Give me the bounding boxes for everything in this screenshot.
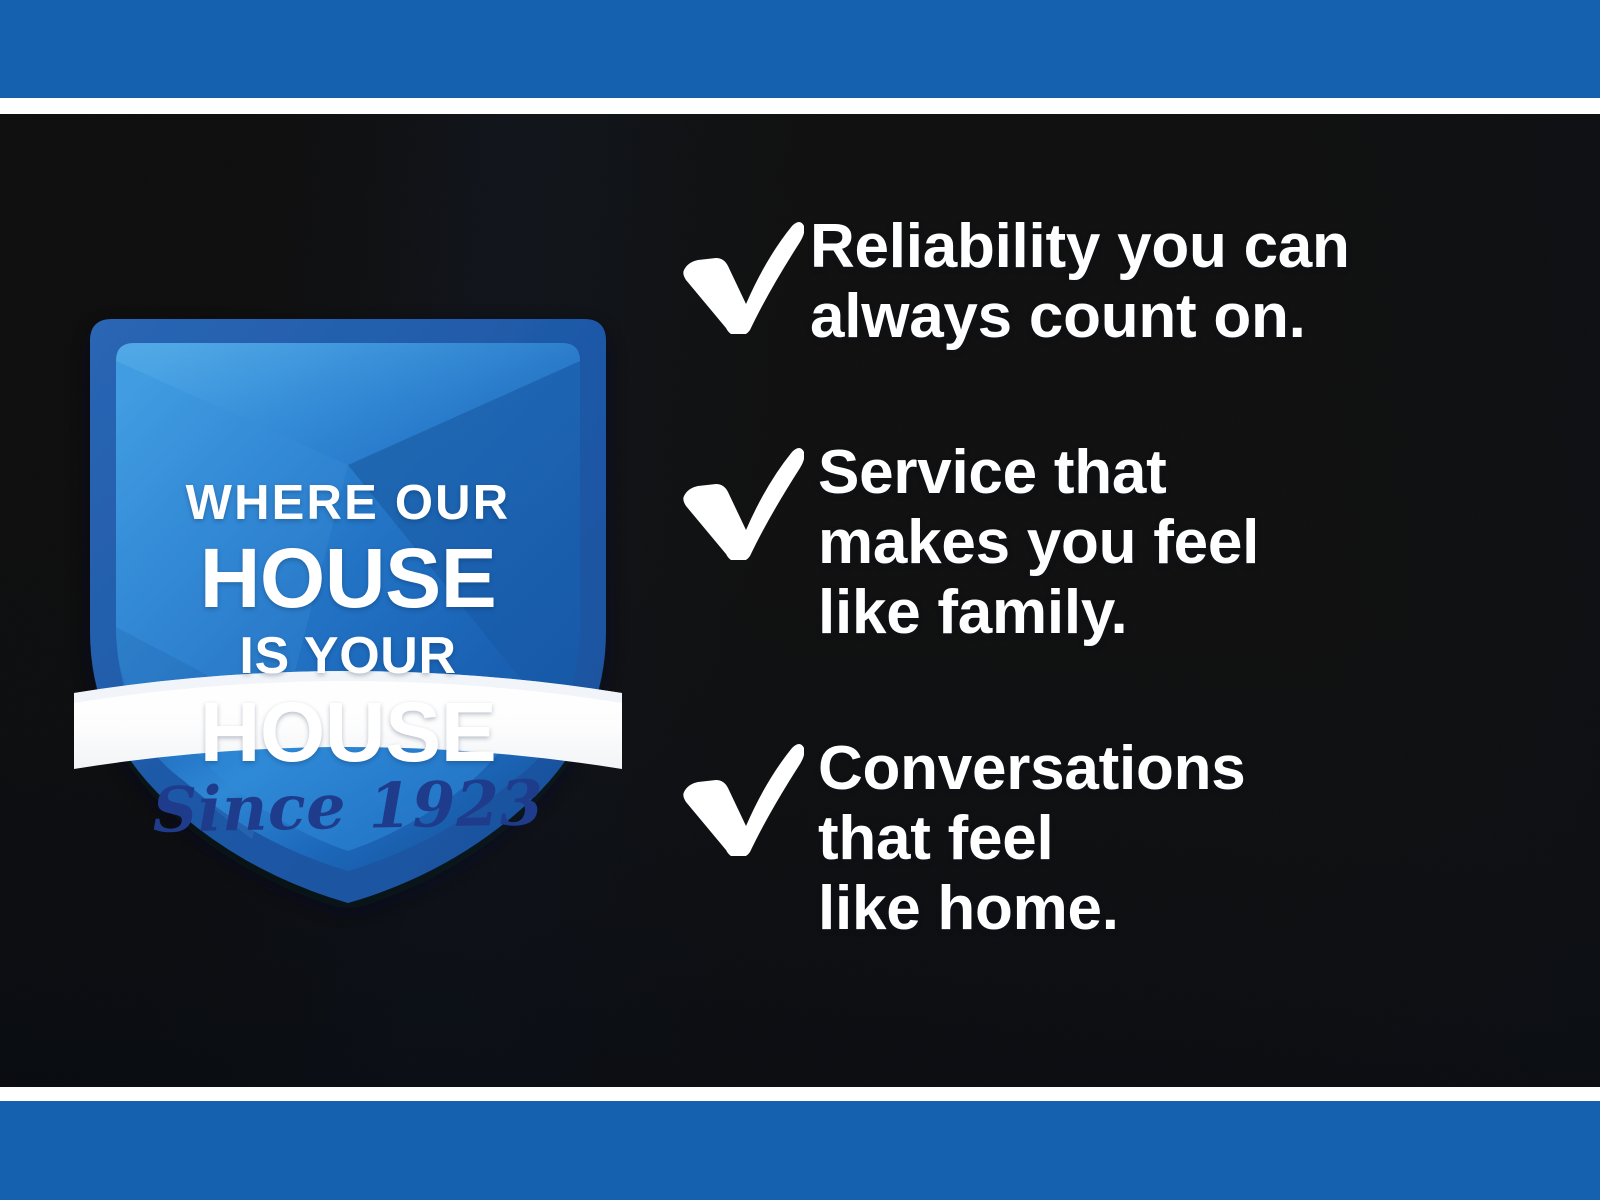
list-item-text: Service that makes you feel like family. [804,436,1492,648]
list-item-line: always count on. [810,282,1492,352]
checkmark-icon [672,218,804,334]
list-item-line: that feel [818,804,1492,874]
list-item: Service that makes you feel like family. [672,436,1492,648]
list-item-text: Reliability you can always count on. [804,210,1492,352]
list-item-line: Conversations [818,734,1492,804]
list-item-line: Service that [818,438,1492,508]
list-item-line: makes you feel [818,508,1492,578]
poster-stage: WHERE OUR HOUSE IS YOUR HOUSE Since 1923… [0,114,1600,1087]
bottom-bar-divider [0,1087,1600,1101]
list-item: Conversations that feel like home. [672,732,1492,944]
list-item-line: like family. [818,578,1492,648]
list-item-line: like home. [818,874,1492,944]
list-item: Reliability you can always count on. [672,210,1492,352]
value-prop-list: Reliability you can always count on. Ser… [672,210,1492,944]
bottom-brand-bar [0,1101,1600,1200]
top-bar-divider [0,98,1600,114]
checkmark-icon [672,444,804,560]
top-brand-bar [0,0,1600,98]
list-item-text: Conversations that feel like home. [804,732,1492,944]
promo-poster: WHERE OUR HOUSE IS YOUR HOUSE Since 1923… [0,0,1600,1200]
company-shield-badge: WHERE OUR HOUSE IS YOUR HOUSE Since 1923 [72,279,624,919]
list-item-line: Reliability you can [810,212,1492,282]
checkmark-icon [672,740,804,856]
